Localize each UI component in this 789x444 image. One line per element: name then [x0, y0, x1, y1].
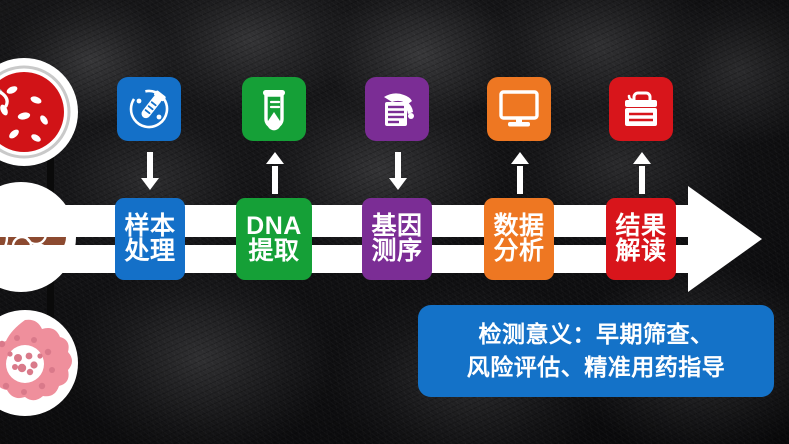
step-box-result-interpretation[interactable]: 结果 解读 [606, 198, 676, 280]
test-tube-in-circle-icon [126, 86, 172, 132]
connector-arrow-dna-extraction [265, 152, 285, 194]
icon-tile-dna-extraction[interactable] [242, 77, 306, 141]
step-label-line2: 解读 [615, 239, 666, 265]
step-label-line2: 分析 [493, 239, 544, 265]
connector-arrow-sample-processing [140, 152, 160, 194]
sequencing-documents-icon [374, 86, 420, 132]
step-label-line1: 基因 [371, 214, 422, 240]
step-box-gene-sequencing[interactable]: 基因 测序 [362, 198, 432, 280]
report-case-icon [619, 88, 663, 130]
step-label-line1: 数据 [493, 214, 544, 240]
infographic-stage: 样本 处理 DNA 提取 [0, 0, 789, 444]
connector-arrow-result-interpretation [632, 152, 652, 194]
connector-arrow-gene-sequencing [388, 152, 408, 194]
test-tube-drop-icon [252, 86, 296, 132]
caption-line1: 检测意义：早期筛查、 [479, 318, 714, 351]
significance-caption-box: 检测意义：早期筛查、 风险评估、精准用药指导 [418, 305, 774, 397]
icon-tile-result-interpretation[interactable] [609, 77, 673, 141]
process-band-arrowhead [688, 186, 762, 292]
icon-tile-gene-sequencing[interactable] [365, 77, 429, 141]
step-label-line2: 提取 [248, 239, 299, 265]
caption-line2: 风险评估、精准用药指导 [467, 351, 726, 384]
step-label-line1: 样本 [124, 214, 175, 240]
step-label-line1: 结果 [615, 214, 666, 240]
icon-tile-sample-processing[interactable] [117, 77, 181, 141]
step-label-line1: DNA [246, 214, 302, 240]
step-label-line2: 测序 [371, 239, 422, 265]
step-box-sample-processing[interactable]: 样本 处理 [115, 198, 185, 280]
band-stripe-top [0, 205, 700, 237]
step-box-dna-extraction[interactable]: DNA 提取 [236, 198, 312, 280]
step-box-data-analysis[interactable]: 数据 分析 [484, 198, 554, 280]
computer-monitor-icon [496, 88, 542, 130]
process-band [0, 205, 700, 273]
step-label-line2: 处理 [124, 239, 175, 265]
icon-tile-data-analysis[interactable] [487, 77, 551, 141]
band-stripe-bottom [0, 245, 700, 273]
connector-arrow-data-analysis [510, 152, 530, 194]
